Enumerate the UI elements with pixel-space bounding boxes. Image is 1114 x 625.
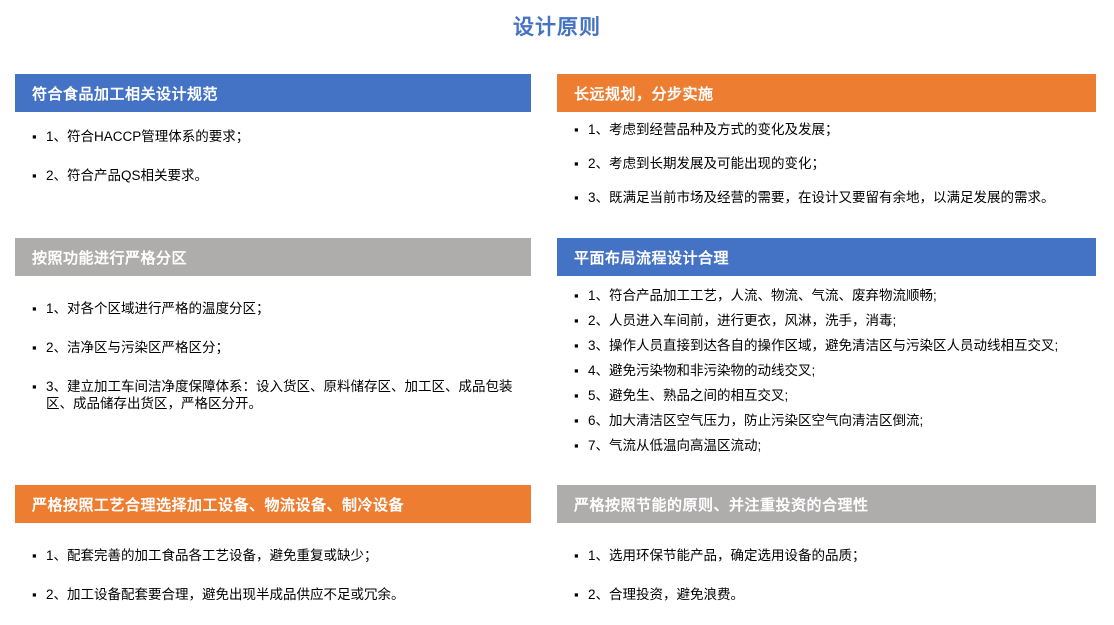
list-item-text: 3、操作人员直接到达各自的操作区域，避免清洁区与污染区人员动线相互交叉; [588,337,1096,354]
bullet-icon: ▪ [557,437,588,454]
bullet-icon: ▪ [15,378,46,395]
bullet-icon: ▪ [557,155,588,172]
section-functional-zoning: 按照功能进行严格分区 ▪ 1、对各个区域进行严格的温度分区； ▪ 2、洁净区与污… [15,238,531,434]
bullet-list-food-processing-standards: ▪ 1、符合HACCP管理体系的要求； ▪ 2、符合产品QS相关要求。 [15,112,531,184]
list-item-text: 2、合理投资，避免浪费。 [588,586,1096,603]
section-equipment-selection: 严格按照工艺合理选择加工设备、物流设备、制冷设备 ▪ 1、配套完善的加工食品各工… [15,485,531,625]
list-item-text: 1、选用环保节能产品，确定选用设备的品质； [588,547,1096,564]
bullet-icon: ▪ [15,547,46,564]
bullet-list-energy-saving-investment: ▪ 1、选用环保节能产品，确定选用设备的品质； ▪ 2、合理投资，避免浪费。 [557,523,1096,603]
bullet-icon: ▪ [557,362,588,379]
bullet-icon: ▪ [15,128,46,145]
list-item-text: 3、建立加工车间洁净度保障体系：设入货区、原料储存区、加工区、成品包装区、成品储… [46,378,531,412]
list-item-text: 5、避免生、熟品之间的相互交叉; [588,387,1096,404]
list-item-text: 2、洁净区与污染区严格区分； [46,339,531,356]
list-item: ▪ 2、考虑到长期发展及可能出现的变化； [557,155,1096,172]
list-item: ▪ 2、符合产品QS相关要求。 [15,167,531,184]
bullet-icon: ▪ [557,312,588,329]
list-item-text: 1、对各个区域进行严格的温度分区； [46,300,531,317]
bullet-list-functional-zoning: ▪ 1、对各个区域进行严格的温度分区； ▪ 2、洁净区与污染区严格区分； ▪ 3… [15,276,531,412]
list-item: ▪ 5、避免生、熟品之间的相互交叉; [557,387,1096,404]
list-item-text: 1、配套完善的加工食品各工艺设备，避免重复或缺少； [46,547,531,564]
bullet-icon: ▪ [557,586,588,603]
section-header-food-processing-standards: 符合食品加工相关设计规范 [15,74,531,112]
list-item-text: 3、既满足当前市场及经营的需要，在设计又要留有余地，以满足发展的需求。 [588,189,1096,206]
list-item: ▪ 1、对各个区域进行严格的温度分区； [15,300,531,317]
list-item-text: 4、避免污染物和非污染物的动线交叉; [588,362,1096,379]
list-item-text: 2、考虑到长期发展及可能出现的变化； [588,155,1096,172]
list-item: ▪ 4、避免污染物和非污染物的动线交叉; [557,362,1096,379]
list-item-text: 7、气流从低温向高温区流动; [588,437,1096,454]
bullet-list-long-term-planning: ▪ 1、考虑到经营品种及方式的变化及发展； ▪ 2、考虑到长期发展及可能出现的变… [557,112,1096,206]
section-food-processing-standards: 符合食品加工相关设计规范 ▪ 1、符合HACCP管理体系的要求； ▪ 2、符合产… [15,74,531,206]
list-item-text: 1、考虑到经营品种及方式的变化及发展； [588,121,1096,138]
section-header-equipment-selection: 严格按照工艺合理选择加工设备、物流设备、制冷设备 [15,485,531,523]
section-long-term-planning: 长远规划，分步实施 ▪ 1、考虑到经营品种及方式的变化及发展； ▪ 2、考虑到长… [557,74,1096,223]
list-item: ▪ 6、加大清洁区空气压力，防止污染区空气向清洁区倒流; [557,412,1096,429]
page-title: 设计原则 [0,11,1114,41]
bullet-icon: ▪ [557,387,588,404]
bullet-icon: ▪ [557,547,588,564]
section-header-functional-zoning: 按照功能进行严格分区 [15,238,531,276]
list-item: ▪ 3、既满足当前市场及经营的需要，在设计又要留有余地，以满足发展的需求。 [557,189,1096,206]
list-item: ▪ 1、符合产品加工工艺，人流、物流、气流、废弃物流顺畅; [557,287,1096,304]
list-item-text: 2、加工设备配套要合理，避免出现半成品供应不足或冗余。 [46,586,531,603]
list-item-text: 6、加大清洁区空气压力，防止污染区空气向清洁区倒流; [588,412,1096,429]
list-item: ▪ 1、选用环保节能产品，确定选用设备的品质； [557,547,1096,564]
list-item: ▪ 2、人员进入车间前，进行更衣，风淋，洗手，消毒; [557,312,1096,329]
bullet-icon: ▪ [15,167,46,184]
list-item: ▪ 2、合理投资，避免浪费。 [557,586,1096,603]
list-item-text: 1、符合HACCP管理体系的要求； [46,128,531,145]
bullet-icon: ▪ [557,121,588,138]
section-header-energy-saving-investment: 严格按照节能的原则、并注重投资的合理性 [557,485,1096,523]
bullet-icon: ▪ [15,300,46,317]
list-item-text: 1、符合产品加工工艺，人流、物流、气流、废弃物流顺畅; [588,287,1096,304]
bullet-icon: ▪ [557,189,588,206]
list-item: ▪ 1、配套完善的加工食品各工艺设备，避免重复或缺少； [15,547,531,564]
bullet-icon: ▪ [557,412,588,429]
list-item-text: 2、符合产品QS相关要求。 [46,167,531,184]
section-header-long-term-planning: 长远规划，分步实施 [557,74,1096,112]
bullet-icon: ▪ [15,339,46,356]
section-header-layout-flow-design: 平面布局流程设计合理 [557,238,1096,276]
bullet-icon: ▪ [557,287,588,304]
bullet-list-equipment-selection: ▪ 1、配套完善的加工食品各工艺设备，避免重复或缺少； ▪ 2、加工设备配套要合… [15,523,531,603]
list-item: ▪ 3、操作人员直接到达各自的操作区域，避免清洁区与污染区人员动线相互交叉; [557,337,1096,354]
list-item: ▪ 7、气流从低温向高温区流动; [557,437,1096,454]
list-item: ▪ 2、洁净区与污染区严格区分； [15,339,531,356]
section-energy-saving-investment: 严格按照节能的原则、并注重投资的合理性 ▪ 1、选用环保节能产品，确定选用设备的… [557,485,1096,625]
bullet-icon: ▪ [557,337,588,354]
bullet-list-layout-flow-design: ▪ 1、符合产品加工工艺，人流、物流、气流、废弃物流顺畅; ▪ 2、人员进入车间… [557,276,1096,454]
section-layout-flow-design: 平面布局流程设计合理 ▪ 1、符合产品加工工艺，人流、物流、气流、废弃物流顺畅;… [557,238,1096,462]
list-item: ▪ 1、考虑到经营品种及方式的变化及发展； [557,121,1096,138]
bullet-icon: ▪ [15,586,46,603]
list-item-text: 2、人员进入车间前，进行更衣，风淋，洗手，消毒; [588,312,1096,329]
list-item: ▪ 3、建立加工车间洁净度保障体系：设入货区、原料储存区、加工区、成品包装区、成… [15,378,531,412]
list-item: ▪ 2、加工设备配套要合理，避免出现半成品供应不足或冗余。 [15,586,531,603]
list-item: ▪ 1、符合HACCP管理体系的要求； [15,128,531,145]
